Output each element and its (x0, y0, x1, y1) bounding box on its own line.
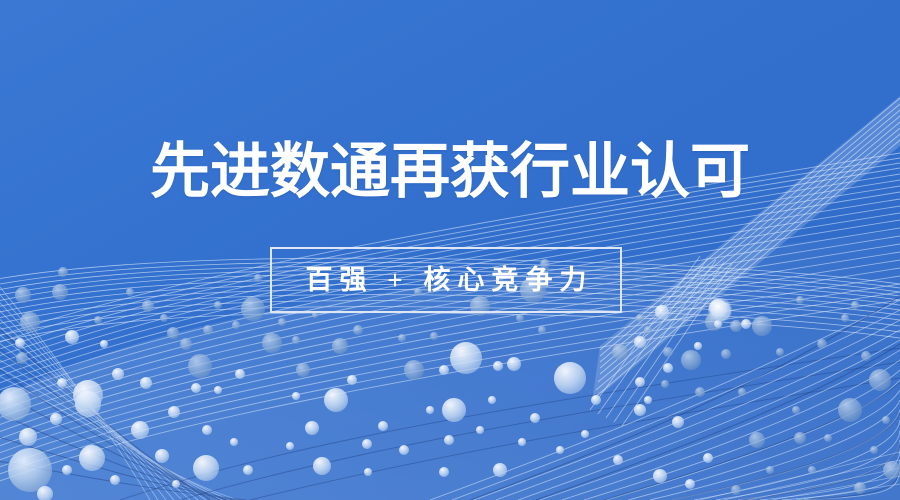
background-decoration (0, 0, 900, 500)
promo-banner: 先进数通再获行业认可 百强 + 核心竞争力 (0, 0, 900, 500)
